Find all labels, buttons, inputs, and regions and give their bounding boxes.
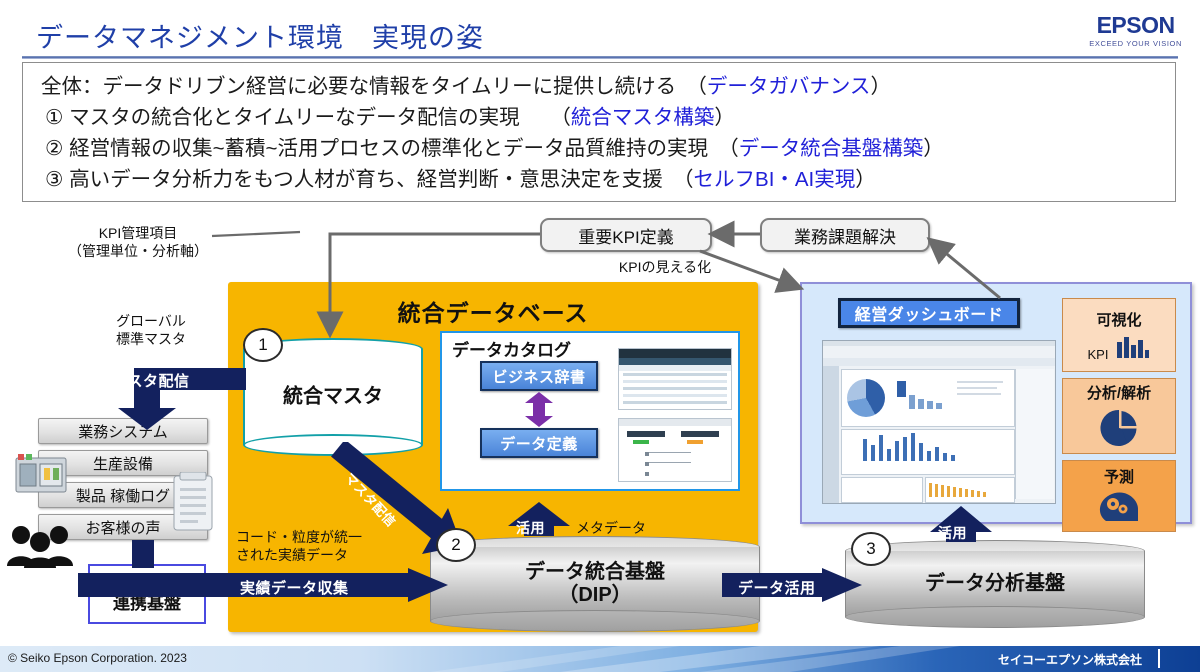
summary-line-0-highlight: データガバナンス — [707, 75, 871, 98]
summary-line-3-highlight: セルフBI・AI実現 — [694, 168, 856, 191]
bidirectional-purple-arrow — [521, 392, 557, 427]
summary-line-1: ① マスタの統合化とタイムリーなデータ配信の実現 （統合マスタ構築） — [41, 102, 1175, 133]
summary-box: 全体：データドリブン経営に必要な情報をタイムリーに提供し続ける （データガバナン… — [22, 62, 1176, 202]
summary-line-3-text: ③ 高いデータ分析力をもつ人材が育ち、経営判断・意思決定を支援 （ — [45, 168, 694, 191]
architecture-diagram: 重要KPI定義 業務課題解決 KPIの見える化 KPI管理項目 （管理単位・分析… — [0, 206, 1200, 640]
summary-line-0-tail: ） — [870, 75, 891, 98]
summary-line-3-tail: ） — [855, 168, 876, 191]
summary-line-2-text: ② 経営情報の収集~蓄積~活用プロセスの標準化とデータ品質維持の実現 （ — [45, 137, 739, 160]
page-title: データマネジメント環境 実現の姿 — [36, 16, 484, 55]
master-distribution-label: マスタ配信 — [112, 370, 190, 391]
summary-line-2-highlight: データ統合基盤構築 — [739, 137, 924, 160]
summary-line-1-tail: ） — [714, 106, 735, 129]
title-divider — [22, 56, 1178, 59]
metadata-label: メタデータ — [576, 518, 646, 538]
factory-machine-icon — [14, 452, 68, 496]
people-icon — [6, 522, 74, 568]
slide-footer: © Seiko Epson Corporation. 2023 セイコーエプソン… — [0, 646, 1200, 672]
katsuyo-dashboard-label: 活用 — [938, 523, 967, 543]
step-number-2: 2 — [436, 528, 476, 562]
summary-line-1-highlight: 統合マスタ構築 — [571, 106, 715, 129]
slide-root: データマネジメント環境 実現の姿 EPSON EXCEED YOUR VISIO… — [0, 0, 1200, 672]
performance-data-collection-label: 実績データ収集 — [240, 577, 349, 598]
summary-line-1-text: ① マスタの統合化とタイムリーなデータ配信の実現 （ — [45, 106, 571, 129]
logo-tagline: EXCEED YOUR VISION — [1089, 39, 1182, 48]
logo-wordmark: EPSON — [1089, 14, 1182, 37]
footer-divider — [1158, 649, 1160, 668]
summary-line-3: ③ 高いデータ分析力をもつ人材が育ち、経営判断・意思決定を支援 （セルフBI・A… — [41, 164, 1175, 195]
corporation-name: セイコーエプソン株式会社 — [998, 651, 1142, 668]
step-number-1: 1 — [243, 328, 283, 362]
summary-line-0: 全体：データドリブン経営に必要な情報をタイムリーに提供し続ける （データガバナン… — [41, 71, 1175, 102]
summary-line-0-text: 全体：データドリブン経営に必要な情報をタイムリーに提供し続ける （ — [41, 75, 707, 98]
summary-line-2-tail: ） — [923, 137, 944, 160]
katsuyo-metadata-label: 活用 — [516, 518, 545, 538]
step-number-3: 3 — [851, 532, 891, 566]
summary-line-2: ② 経営情報の収集~蓄積~活用プロセスの標準化とデータ品質維持の実現 （データ統… — [41, 133, 1175, 164]
systems-to-linkage-connector — [132, 540, 154, 568]
epson-logo: EPSON EXCEED YOUR VISION — [1089, 14, 1182, 48]
printer-icon — [168, 472, 218, 534]
data-utilization-label: データ活用 — [738, 577, 816, 598]
copyright-text: © Seiko Epson Corporation. 2023 — [8, 651, 187, 665]
